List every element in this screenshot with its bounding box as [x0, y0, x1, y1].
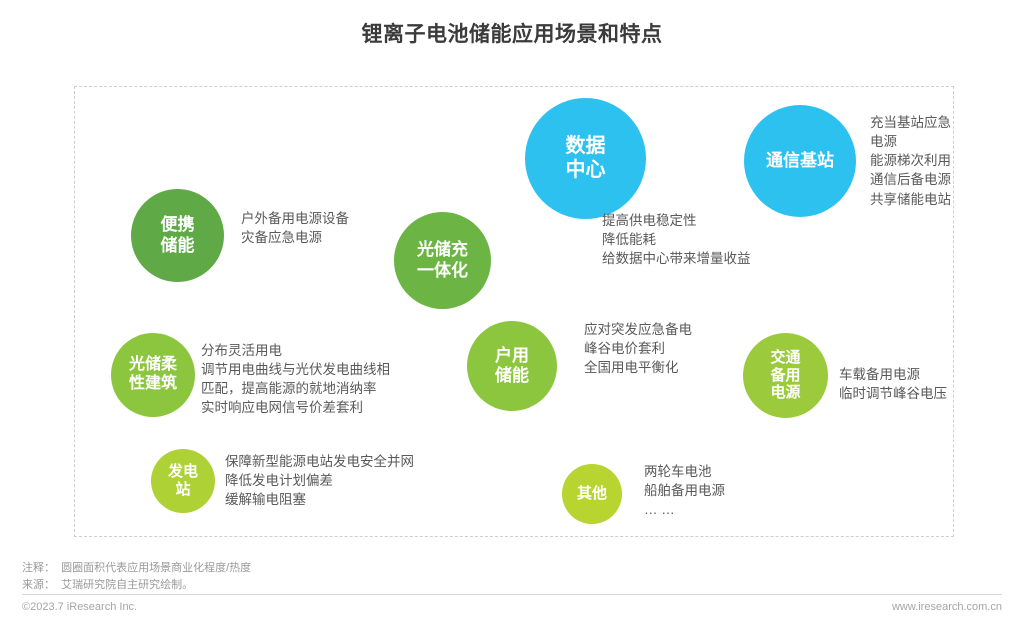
bubble-portable-storage[interactable]: 便携 储能 — [131, 189, 224, 282]
notes-other: 两轮车电池 船舶备用电源 … … — [644, 462, 725, 519]
bubble-label-data-center: 数据 中心 — [562, 135, 610, 182]
bubble-power-station[interactable]: 发电 站 — [151, 449, 215, 513]
bubble-flexible-building[interactable]: 光储柔 性建筑 — [111, 333, 195, 417]
footnote-source: 来源： 艾瑞研究院自主研究绘制。 — [22, 577, 251, 594]
page-title: 锂离子电池储能应用场景和特点 — [0, 18, 1024, 48]
notes-portable-storage: 户外备用电源设备 灾备应急电源 — [241, 209, 349, 247]
bubble-label-base-station: 通信基站 — [762, 151, 838, 171]
bubble-other[interactable]: 其他 — [562, 464, 622, 524]
notes-household-storage: 应对突发应急备电 峰谷电价套利 全国用电平衡化 — [584, 320, 692, 377]
bubble-label-power-station: 发电 站 — [164, 463, 202, 498]
bubble-transport-backup-power[interactable]: 交通 备用 电源 — [743, 333, 828, 418]
bubble-label-household-storage: 户用 储能 — [491, 346, 533, 386]
bubble-label-portable-storage: 便携 储能 — [157, 215, 199, 255]
notes-data-center: 提高供电稳定性 降低能耗 给数据中心带来增量收益 — [602, 211, 751, 268]
bubble-label-pv-storage-charging: 光储充 一体化 — [413, 240, 472, 280]
footnotes: 注释： 圆圈面积代表应用场景商业化程度/热度 来源： 艾瑞研究院自主研究绘制。 — [22, 560, 251, 593]
bubble-label-transport-backup-power: 交通 备用 电源 — [766, 349, 804, 402]
footer-website: www.iresearch.com.cn — [892, 601, 1002, 613]
footer-copyright: ©2023.7 iResearch Inc. — [22, 601, 137, 613]
footnote-note: 注释： 圆圈面积代表应用场景商业化程度/热度 — [22, 560, 251, 577]
bubble-label-flexible-building: 光储柔 性建筑 — [125, 356, 181, 394]
footer-divider — [22, 594, 1002, 595]
bubble-base-station[interactable]: 通信基站 — [744, 105, 856, 217]
bubble-household-storage[interactable]: 户用 储能 — [467, 321, 557, 411]
notes-base-station: 充当基站应急电源 能源梯次利用 通信后备电源 共享储能电站 — [870, 113, 953, 209]
bubble-data-center[interactable]: 数据 中心 — [525, 98, 646, 219]
notes-power-station: 保障新型能源电站发电安全并网 降低发电计划偏差 缓解输电阻塞 — [225, 452, 414, 509]
bubble-label-other: 其他 — [573, 485, 611, 503]
bubble-chart-canvas: 便携 储能 户外备用电源设备 灾备应急电源 数据 中心 提高供电稳定性 降低能耗… — [74, 86, 954, 537]
notes-transport-backup-power: 车载备用电源 临时调节峰谷电压 — [839, 365, 947, 403]
notes-flexible-building: 分布灵活用电 调节用电曲线与光伏发电曲线相 匹配，提高能源的就地消纳率 实时响应… — [201, 341, 390, 418]
bubble-pv-storage-charging[interactable]: 光储充 一体化 — [394, 212, 491, 309]
